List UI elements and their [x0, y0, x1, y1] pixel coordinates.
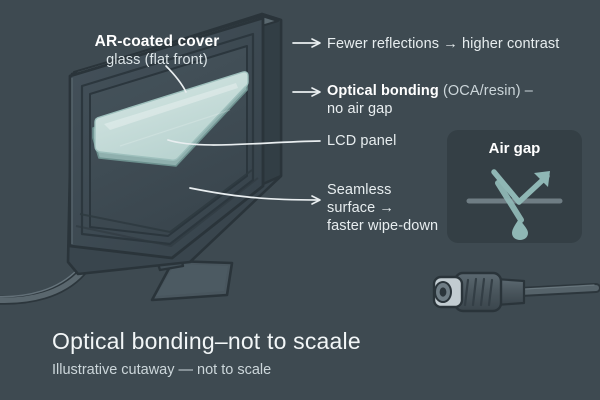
label-lcd-panel: LCD panel	[327, 132, 396, 150]
label-ar-coated-cover: AR-coated cover glass (flat front)	[52, 32, 262, 70]
label-ar-line1: AR-coated cover	[52, 32, 262, 51]
page-subtitle: Illustrative cutaway — not to scale	[52, 362, 271, 378]
air-gap-diagram	[447, 130, 582, 243]
label-bonding-line2: no air gap	[327, 100, 587, 118]
droplet-icon	[512, 219, 528, 240]
label-ar-line2: glass (flat front)	[52, 51, 262, 69]
page-title: Optical bonding–not to scaale	[52, 328, 361, 355]
label-fewer-reflections: Fewer reflections → higher contrast	[327, 35, 559, 53]
label-bonding-strong: Optical bonding	[327, 83, 439, 99]
label-optical-bonding: Optical bonding (OCA/resin) – no air gap	[327, 82, 587, 118]
air-gap-inset-panel: Air gap	[447, 130, 582, 243]
illustration-canvas: AR-coated cover glass (flat front) Fewer…	[0, 0, 600, 400]
label-bonding-rest: (OCA/resin) –	[439, 83, 533, 99]
video-connector-icon	[434, 273, 596, 311]
